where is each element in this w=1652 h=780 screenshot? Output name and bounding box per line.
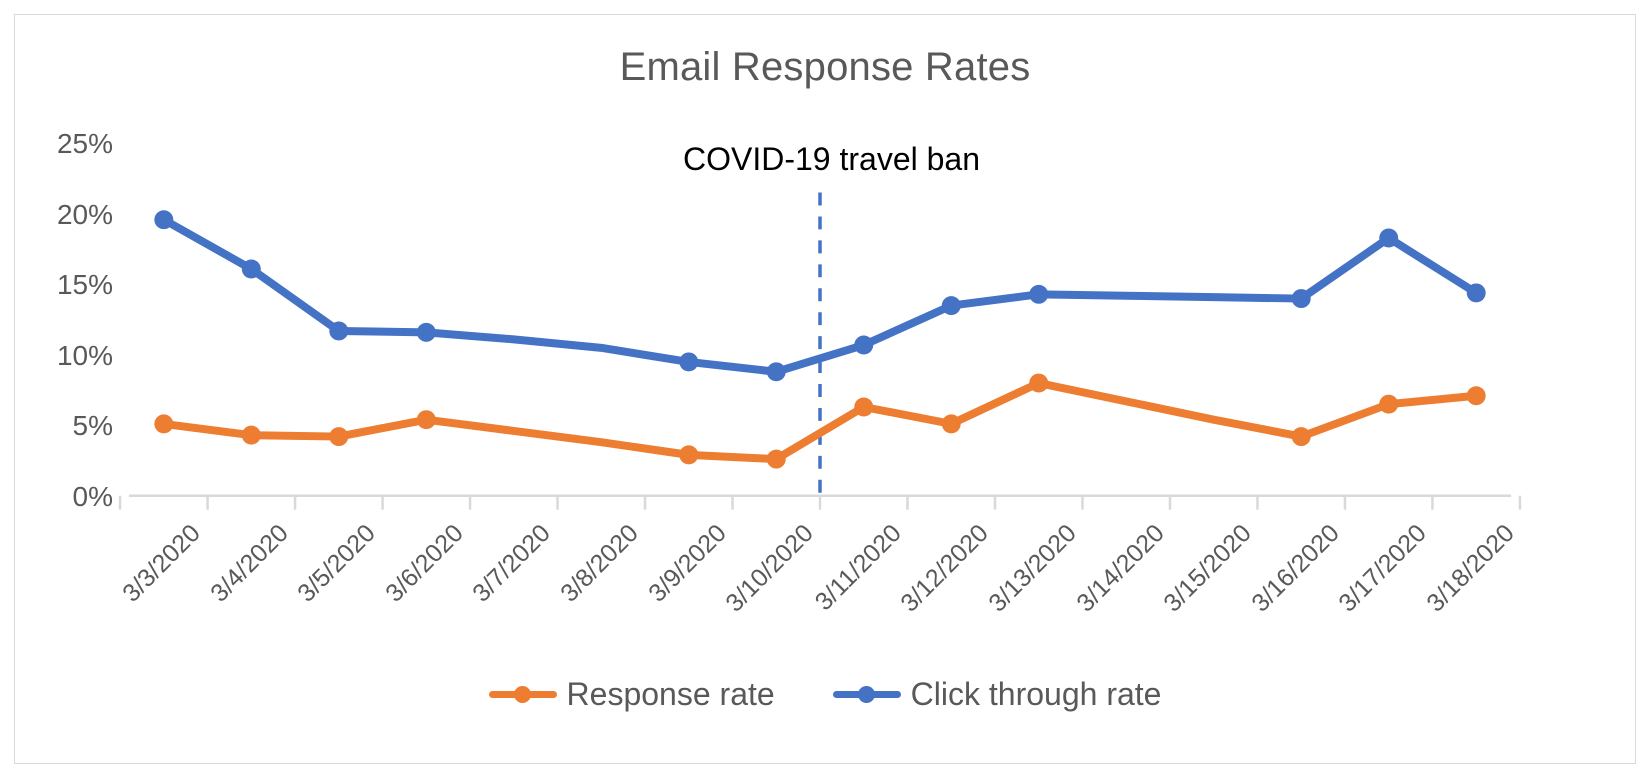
data-point-marker: [1029, 285, 1048, 304]
data-point-marker: [417, 323, 436, 342]
x-axis-tick-label: 3/12/2020: [819, 519, 995, 695]
data-point-marker: [242, 260, 261, 279]
data-point-marker: [154, 210, 173, 229]
data-point-marker: [679, 352, 698, 371]
data-point-marker: [1379, 229, 1398, 248]
y-axis-tick-label: 25%: [33, 128, 113, 160]
chart-title: Email Response Rates: [15, 45, 1635, 90]
data-point-marker: [679, 445, 698, 464]
data-point-marker: [767, 362, 786, 381]
y-axis-tick-label: 15%: [33, 269, 113, 301]
data-point-marker: [1292, 289, 1311, 308]
x-axis-tick-label: 3/4/2020: [118, 519, 294, 695]
x-axis-tick-label: 3/17/2020: [1257, 519, 1433, 695]
x-axis-tick-label: 3/10/2020: [644, 519, 820, 695]
data-point-marker: [154, 414, 173, 433]
x-axis-tick-label: 3/9/2020: [556, 519, 732, 695]
legend-label: Response rate: [567, 676, 775, 713]
x-axis-tick-label: 3/14/2020: [994, 519, 1170, 695]
series-line-response-rate: [164, 383, 1476, 459]
legend-swatch-icon: [489, 684, 557, 706]
data-point-marker: [1467, 283, 1486, 302]
x-axis-tick-label: 3/8/2020: [468, 519, 644, 695]
series-line-click-through-rate: [164, 220, 1476, 372]
chart-container: Email Response Rates COVID-19 travel ban…: [14, 14, 1636, 764]
data-point-marker: [417, 410, 436, 429]
legend-label: Click through rate: [911, 676, 1162, 713]
x-axis-tick-label: 3/16/2020: [1169, 519, 1345, 695]
y-axis-tick-label: 0%: [33, 481, 113, 513]
data-point-marker: [767, 450, 786, 469]
data-point-marker: [1379, 395, 1398, 414]
data-point-marker: [854, 398, 873, 417]
data-point-marker: [329, 321, 348, 340]
data-point-marker: [242, 426, 261, 445]
data-point-marker: [942, 414, 961, 433]
x-axis-tick-label: 3/18/2020: [1344, 519, 1520, 695]
x-axis-tick-label: 3/5/2020: [206, 519, 382, 695]
x-axis-tick-label: 3/11/2020: [731, 519, 907, 695]
y-axis-tick-label: 5%: [33, 410, 113, 442]
x-axis-tick-label: 3/7/2020: [381, 519, 557, 695]
data-point-marker: [1292, 427, 1311, 446]
x-axis-tick-label: 3/13/2020: [906, 519, 1082, 695]
annotation-label-covid-19-travel-ban: COVID-19 travel ban: [683, 141, 980, 178]
data-point-marker: [1467, 386, 1486, 405]
x-axis-tick-label: 3/15/2020: [1082, 519, 1258, 695]
legend-swatch-icon: [833, 684, 901, 706]
data-point-marker: [854, 336, 873, 355]
y-axis-tick-label: 10%: [33, 340, 113, 372]
data-point-marker: [329, 427, 348, 446]
data-point-marker: [1029, 374, 1048, 393]
legend-item-click-through-rate[interactable]: Click through rate: [833, 676, 1162, 713]
x-axis-tick-label: 3/6/2020: [293, 519, 469, 695]
chart-legend: Response rateClick through rate: [15, 676, 1635, 713]
data-point-marker: [942, 296, 961, 315]
y-axis-tick-label: 20%: [33, 199, 113, 231]
legend-item-response-rate[interactable]: Response rate: [489, 676, 775, 713]
